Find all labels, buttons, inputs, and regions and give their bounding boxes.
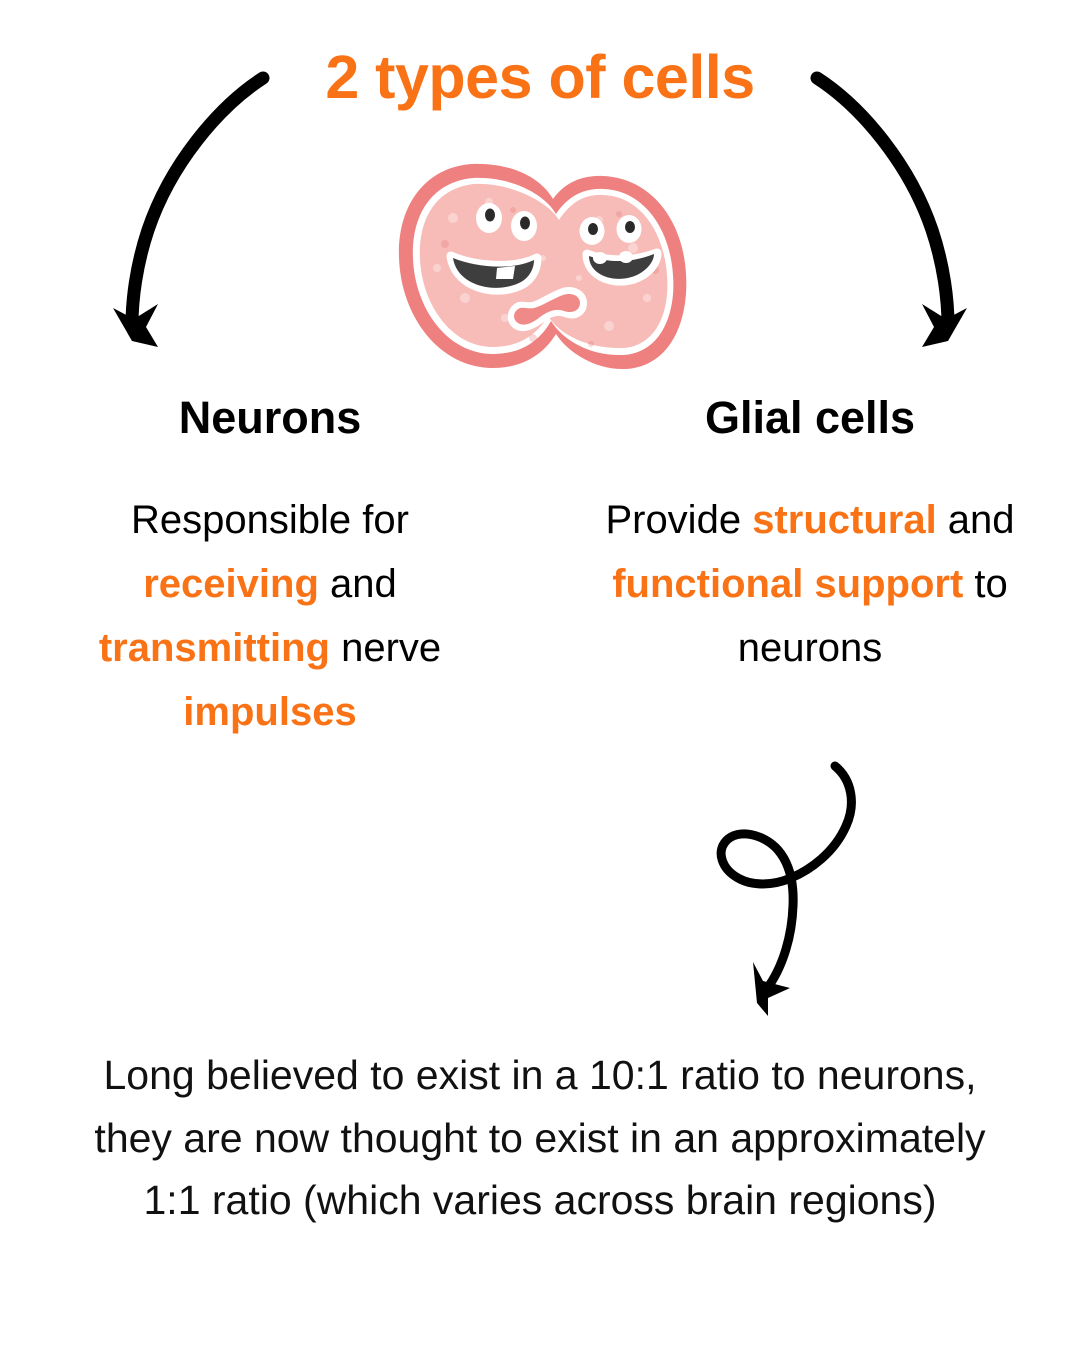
column-heading-glial-cells: Glial cells xyxy=(705,392,915,444)
column-glial-cells: Glial cells Provide structural and funct… xyxy=(540,392,1080,744)
footnote-text: Long believed to exist in a 10:1 ratio t… xyxy=(90,1044,990,1232)
two-cells-cartoon-icon xyxy=(393,158,693,376)
text-segment: and xyxy=(937,498,1015,542)
two-column-section: Neurons Responsible for receiving and tr… xyxy=(0,392,1080,744)
curved-arrow-down-left-icon xyxy=(100,55,300,365)
highlight-functional-support: functional support xyxy=(612,562,963,606)
column-heading-neurons: Neurons xyxy=(179,392,362,444)
text-segment: and xyxy=(319,562,397,606)
highlight-transmitting: transmitting xyxy=(99,626,330,670)
right-cell-mouth xyxy=(587,251,657,281)
text-segment: Provide xyxy=(605,498,752,542)
highlight-receiving: receiving xyxy=(143,562,319,606)
highlight-structural: structural xyxy=(752,498,937,542)
text-segment: nerve xyxy=(330,626,441,670)
infographic-canvas: 2 types of cells xyxy=(0,0,1080,1350)
curved-arrow-down-right-icon xyxy=(790,55,990,365)
highlight-impulses: impulses xyxy=(183,690,356,734)
curly-loop-arrow-down-left-icon xyxy=(660,758,905,1033)
text-segment: Responsible for xyxy=(131,498,409,542)
column-body-neurons: Responsible for receiving and transmitti… xyxy=(55,488,485,744)
column-neurons: Neurons Responsible for receiving and tr… xyxy=(0,392,540,744)
column-body-glial-cells: Provide structural and functional suppor… xyxy=(590,488,1030,680)
